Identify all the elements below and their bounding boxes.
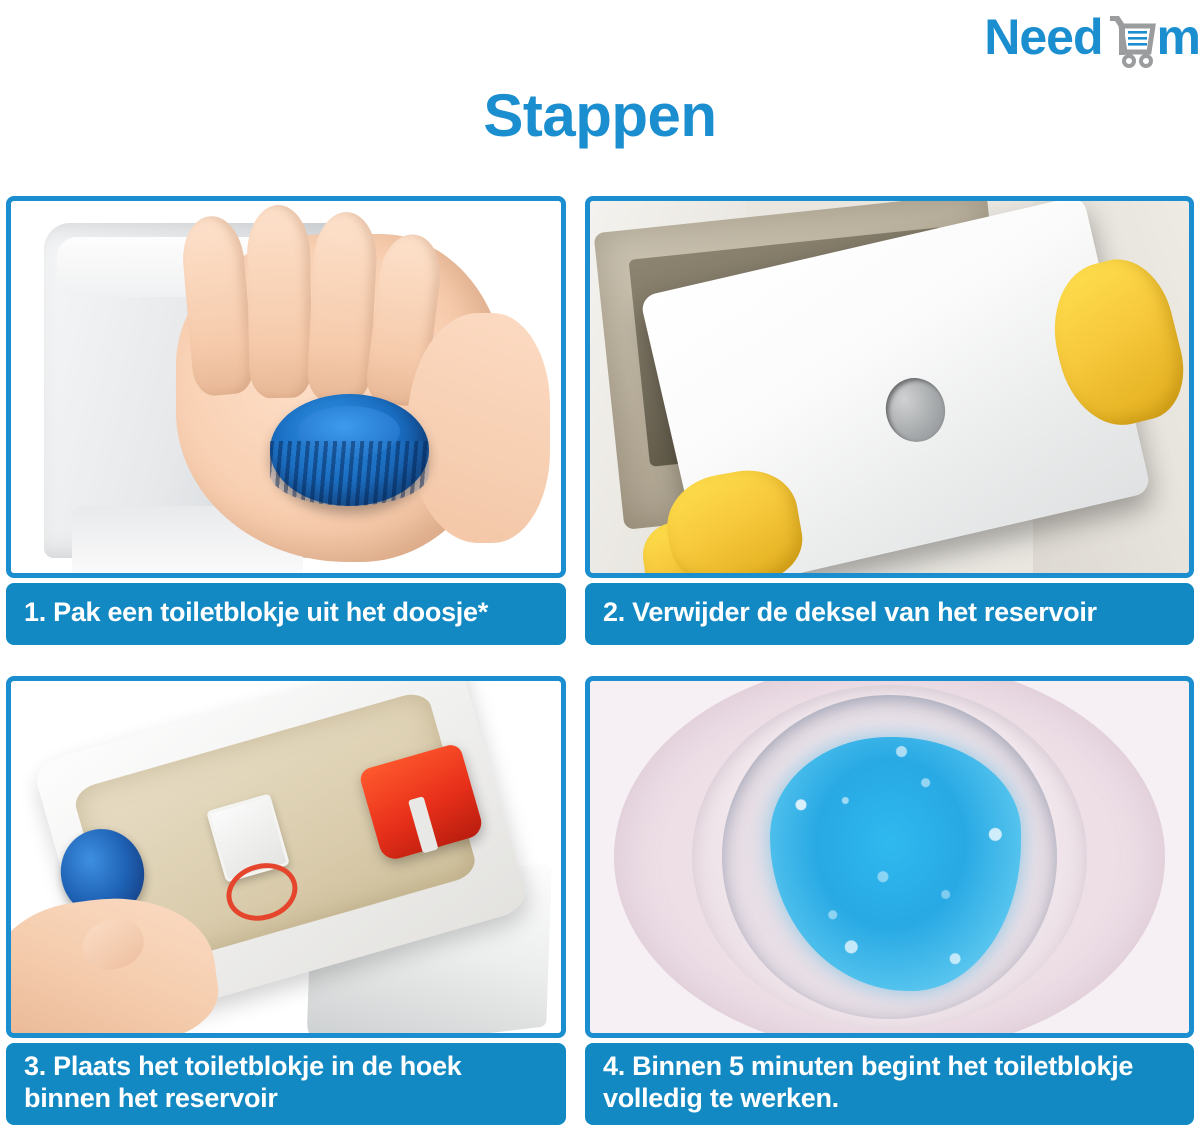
step-3-photo bbox=[11, 681, 561, 1033]
step-1-photo-frame bbox=[6, 196, 566, 578]
step-card-4: 4. Binnen 5 minuten begint het toiletblo… bbox=[585, 676, 1194, 1128]
steps-grid: 1. Pak een toiletblokje uit het doosje* bbox=[6, 196, 1194, 1128]
finger-shape bbox=[246, 204, 313, 399]
step-card-2: 2. Verwijder de deksel van het reservoir bbox=[585, 196, 1194, 648]
step-3-caption: 3. Plaats het toiletblokje in de hoek bi… bbox=[6, 1043, 566, 1125]
page-title: Stappen bbox=[0, 86, 1200, 146]
step-card-3: 3. Plaats het toiletblokje in de hoek bi… bbox=[6, 676, 566, 1128]
step-card-1: 1. Pak een toiletblokje uit het doosje* bbox=[6, 196, 566, 648]
shopping-cart-icon bbox=[1104, 12, 1156, 68]
step-1-caption-line-1: 1. Pak een toiletblokje uit het doosje* bbox=[24, 597, 488, 629]
brand-wordmark: Need m bbox=[984, 12, 1200, 68]
step-3-caption-line-2: binnen het reservoir bbox=[24, 1083, 462, 1115]
infographic-page: Need m Stappen bbox=[0, 0, 1200, 1129]
step-1-caption: 1. Pak een toiletblokje uit het doosje* bbox=[6, 583, 566, 645]
step-4-photo-frame bbox=[585, 676, 1194, 1038]
thumb-shape bbox=[407, 313, 550, 544]
step-1-photo bbox=[11, 201, 561, 573]
brand-text-after-cart: m bbox=[1157, 12, 1200, 62]
blue-toilet-block-shape bbox=[270, 394, 430, 506]
step-3-photo-frame bbox=[6, 676, 566, 1038]
step-4-photo bbox=[590, 681, 1189, 1033]
brand-text-before-cart: Need bbox=[984, 12, 1102, 62]
step-2-caption: 2. Verwijder de deksel van het reservoir bbox=[585, 583, 1194, 645]
brand-logo: Need m bbox=[984, 12, 1200, 68]
step-4-caption-line-1: 4. Binnen 5 minuten begint het toiletblo… bbox=[603, 1051, 1133, 1083]
step-2-photo-frame bbox=[585, 196, 1194, 578]
step-3-caption-line-1: 3. Plaats het toiletblokje in de hoek bbox=[24, 1051, 462, 1083]
lid-hole-shape bbox=[879, 372, 951, 448]
step-4-caption: 4. Binnen 5 minuten begint het toiletblo… bbox=[585, 1043, 1194, 1125]
step-2-photo bbox=[590, 201, 1189, 573]
step-2-caption-line-1: 2. Verwijder de deksel van het reservoir bbox=[603, 597, 1097, 629]
step-4-caption-line-2: volledig te werken. bbox=[603, 1083, 1133, 1115]
